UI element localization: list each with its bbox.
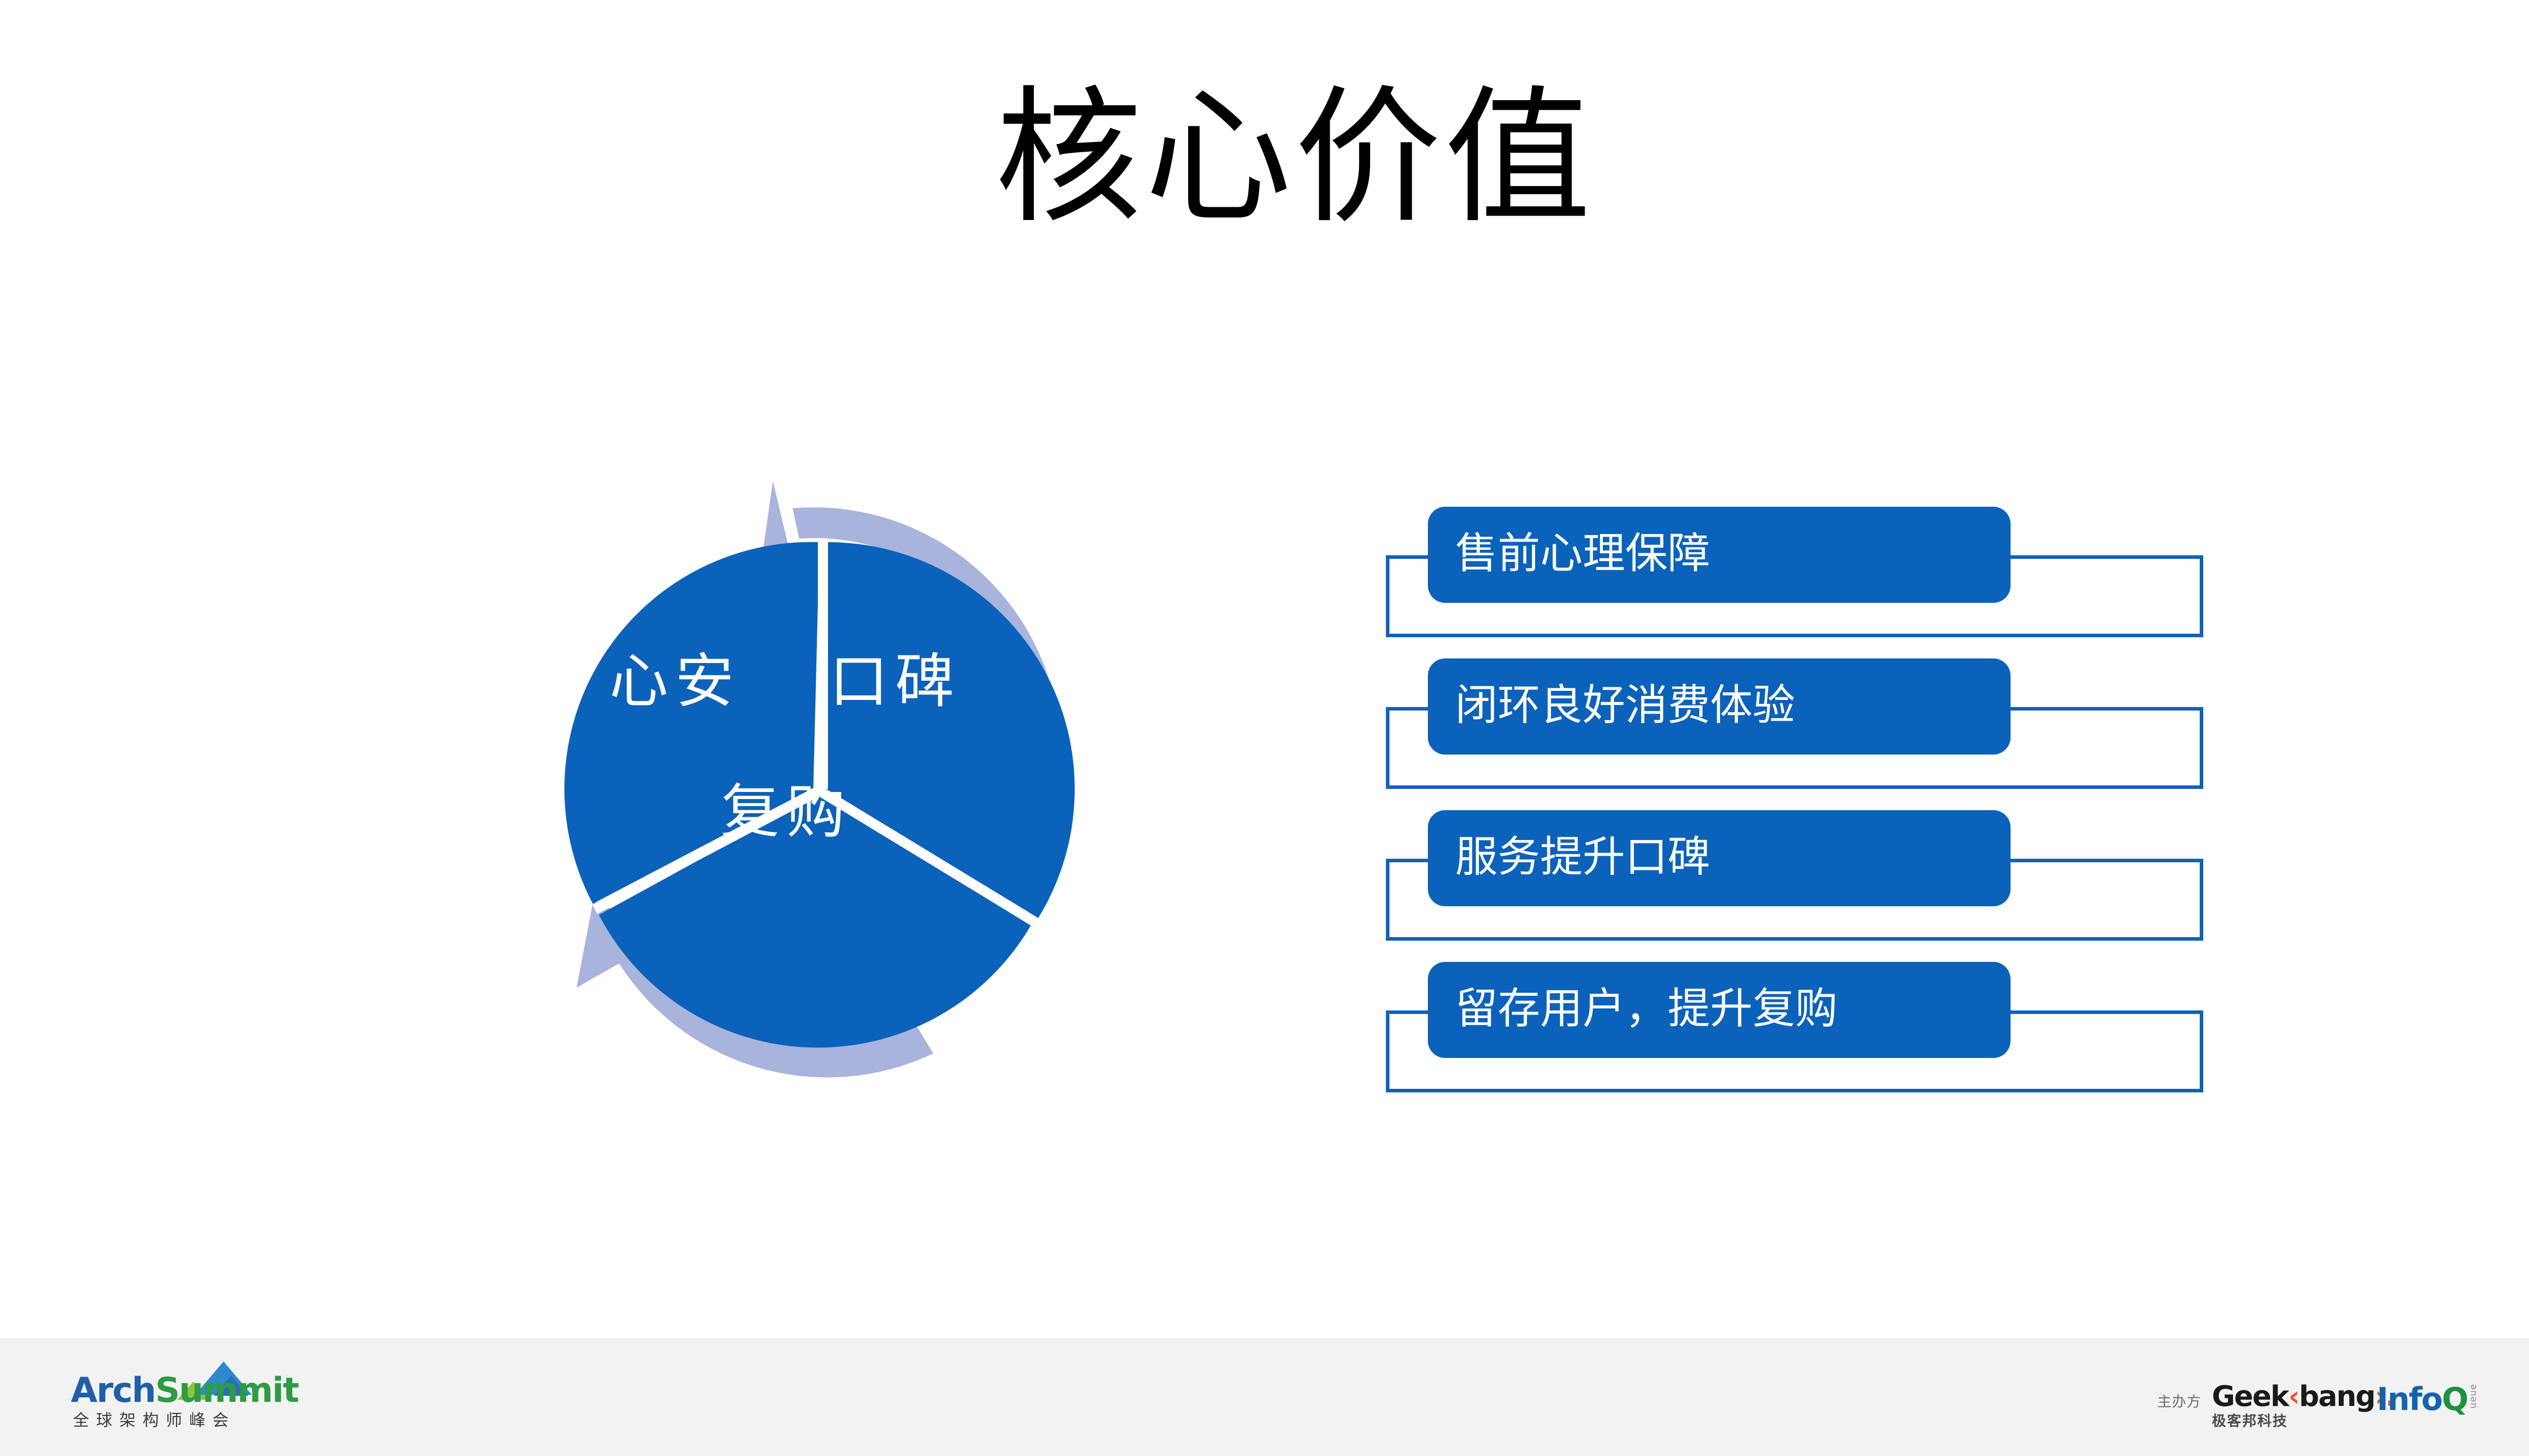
archsummit-wordmark: ArchSummit <box>71 1374 298 1408</box>
geekbang-wordmark: Geek‹bang›. <box>2212 1383 2364 1411</box>
infoq-superscript: ueue <box>2469 1384 2478 1408</box>
value-chip[interactable]: 服务提升口碑 <box>1428 810 2011 906</box>
sponsor-label: 主办方 <box>2157 1395 2201 1409</box>
value-row: 服务提升口碑 <box>1386 804 2210 956</box>
value-list: 售前心理保障 闭环良好消费体验 服务提升口碑 留存用户，提升复购 <box>1386 501 2210 1108</box>
geekbang-chevron-icon: ‹ <box>2288 1380 2299 1413</box>
value-row: 留存用户，提升复购 <box>1386 956 2210 1108</box>
value-chip-label: 闭环良好消费体验 <box>1455 684 1795 726</box>
cycle-label-fugou: 复购 <box>721 783 852 842</box>
infoq-logo: InfoQueue <box>2377 1384 2478 1415</box>
value-chip[interactable]: 闭环良好消费体验 <box>1428 658 2011 755</box>
geekbang-logo: Geek‹bang›. 极客邦科技 <box>2212 1383 2364 1428</box>
archsummit-word-arch: Arch <box>71 1371 155 1410</box>
slide-canvas: 核心价值 <box>0 0 2529 1456</box>
cycle-label-koubei: 口碑 <box>830 652 961 711</box>
value-chip-label: 售前心理保障 <box>1455 532 1710 575</box>
value-chip-label: 服务提升口碑 <box>1455 835 1710 878</box>
archsummit-logo: ArchSummit 全球架构师峰会 <box>71 1371 314 1436</box>
geekbang-subtitle: 极客邦科技 <box>2212 1414 2364 1428</box>
value-chip[interactable]: 留存用户，提升复购 <box>1428 962 2011 1058</box>
cycle-diagram: 心安 口碑 复购 <box>475 455 1163 1133</box>
geekbang-word-geek: Geek <box>2212 1380 2288 1413</box>
page-title: 核心价值 <box>0 85 2529 232</box>
archsummit-subtitle: 全球架构师峰会 <box>73 1412 236 1428</box>
infoq-word-info: Info <box>2377 1381 2442 1418</box>
infoq-word-q: Q <box>2442 1381 2469 1418</box>
footer-band <box>0 1338 2529 1456</box>
value-row: 闭环良好消费体验 <box>1386 652 2210 804</box>
cycle-label-xinan: 心安 <box>609 652 741 711</box>
archsummit-word-summit: Summit <box>155 1371 298 1410</box>
geekbang-word-bang: bang <box>2299 1380 2375 1413</box>
value-chip-label: 留存用户，提升复购 <box>1455 987 1838 1030</box>
value-chip[interactable]: 售前心理保障 <box>1428 507 2011 603</box>
value-row: 售前心理保障 <box>1386 501 2210 652</box>
